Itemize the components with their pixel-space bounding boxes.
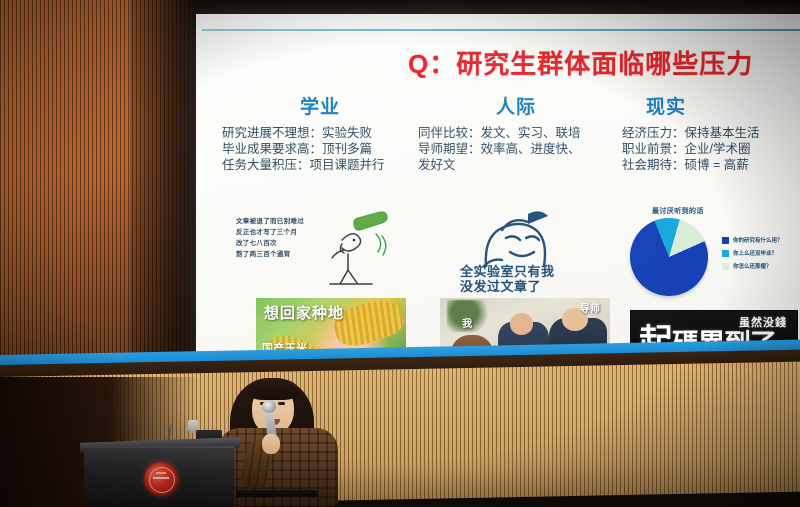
legend-label-3: 你怎么还那瘦？ xyxy=(733,262,772,270)
drinking-stick-figure-doodle: 文章被退了而已别难过 反正也才写了三个月 改了七八百次 熬了两三百个通宵 xyxy=(230,210,406,294)
column-academics-line-3: 任务大量积压：项目课题并行 xyxy=(222,157,418,173)
doodle-text-block: 文章被退了而已别难过 反正也才写了三个月 改了七八百次 熬了两三百个通宵 xyxy=(236,216,304,260)
slide-title: Q：研究生群体面临哪些压力 xyxy=(408,44,753,81)
column-interpersonal-line-1: 同伴比较：发文、实习、联培 xyxy=(418,125,614,141)
emblem-detail-1 xyxy=(153,477,169,479)
column-reality: 现实 经济压力：保持基本生活 职业前景：企业/学术圈 社会期待：硕博 = 高薪 xyxy=(622,92,800,173)
corn-meme-caption-main: 想回家种地 xyxy=(264,302,344,323)
doodle-line-2: 反正也才写了三个月 xyxy=(236,227,304,238)
column-academics-line-2: 毕业成果要求高：顶刊多篇 xyxy=(222,141,418,157)
column-reality-heading: 现实 xyxy=(622,92,800,119)
pie-chart-graphic xyxy=(630,218,708,296)
emblem-ring xyxy=(149,467,175,493)
projected-slide: Q：研究生群体面临哪些压力 学业 研究进展不理想：实验失败 毕业成果要求高：顶刊… xyxy=(196,14,800,382)
slide-columns: 学业 研究进展不理想：实验失败 毕业成果要求高：顶刊多篇 任务大量积压：项目课题… xyxy=(210,92,800,210)
column-interpersonal-line-3: 发好文 xyxy=(418,157,614,173)
legend-label-1: 你的研究有什么用？ xyxy=(733,236,783,244)
doodle-line-1: 文章被退了而已别难过 xyxy=(236,216,304,227)
column-interpersonal-line-2: 导师期望：效率高、进度快、 xyxy=(418,141,614,157)
doodle-line-3: 改了七八百次 xyxy=(236,238,304,249)
speaker-fringe xyxy=(248,378,298,400)
crying-figure-caption: 全实验室只有我 没发过文章了 xyxy=(460,264,555,294)
microphone-head-icon xyxy=(262,400,276,413)
legend-item: 你怎么还那瘦？ xyxy=(722,262,783,270)
legend-swatch-2 xyxy=(722,250,729,257)
meme-label-advisor: 导师 xyxy=(580,300,600,315)
pie-chart-legend: 你的研究有什么用？ 你上么还没毕业？ 你怎么还那瘦？ xyxy=(722,236,783,275)
crying-caption-line-2: 没发过文章了 xyxy=(460,279,555,294)
pie-chart-title: 最讨厌听到的话 xyxy=(652,206,704,216)
crying-caption-line-1: 全实验室只有我 xyxy=(460,264,555,279)
speaker-eye-right xyxy=(278,402,285,405)
column-reality-line-1: 经济压力：保持基本生活 xyxy=(622,125,800,141)
legend-item: 你的研究有什么用？ xyxy=(722,236,783,244)
university-emblem-icon xyxy=(144,462,178,496)
column-reality-line-3: 社会期待：硕博 = 高薪 xyxy=(622,157,800,173)
column-academics-line-1: 研究进展不理想：实验失败 xyxy=(222,125,418,141)
legend-label-2: 你上么还没毕业？ xyxy=(733,249,777,257)
column-academics-heading: 学业 xyxy=(222,92,418,119)
emblem-detail-2 xyxy=(156,472,166,474)
legend-item: 你上么还没毕业？ xyxy=(722,249,783,257)
meme-label-me: 我 xyxy=(462,315,472,330)
crying-figure-meme: 全实验室只有我 没发过文章了 xyxy=(440,208,608,296)
doodle-line-4: 熬了两三百个通宵 xyxy=(236,249,304,260)
lecture-hall-photo: Q：研究生群体面临哪些压力 学业 研究进展不理想：实验失败 毕业成果要求高：顶刊… xyxy=(0,0,800,507)
pie-chart-block: 最讨厌听到的话 你的研究有什么用？ 你上么还没毕业？ 你怎么还那瘦？ xyxy=(608,206,794,298)
speaker-belt xyxy=(236,490,318,497)
column-interpersonal: 人际 同伴比较：发文、实习、联培 导师期望：效率高、进度快、 发好文 xyxy=(418,92,614,173)
slide-top-rule xyxy=(202,29,800,31)
column-interpersonal-heading: 人际 xyxy=(418,92,614,119)
column-reality-line-2: 职业前景：企业/学术圈 xyxy=(622,141,800,157)
column-academics: 学业 研究进展不理想：实验失败 毕业成果要求高：顶刊多篇 任务大量积压：项目课题… xyxy=(222,92,418,173)
legend-swatch-1 xyxy=(722,237,729,244)
legend-swatch-3 xyxy=(722,263,729,270)
speaker-hand xyxy=(262,434,280,454)
